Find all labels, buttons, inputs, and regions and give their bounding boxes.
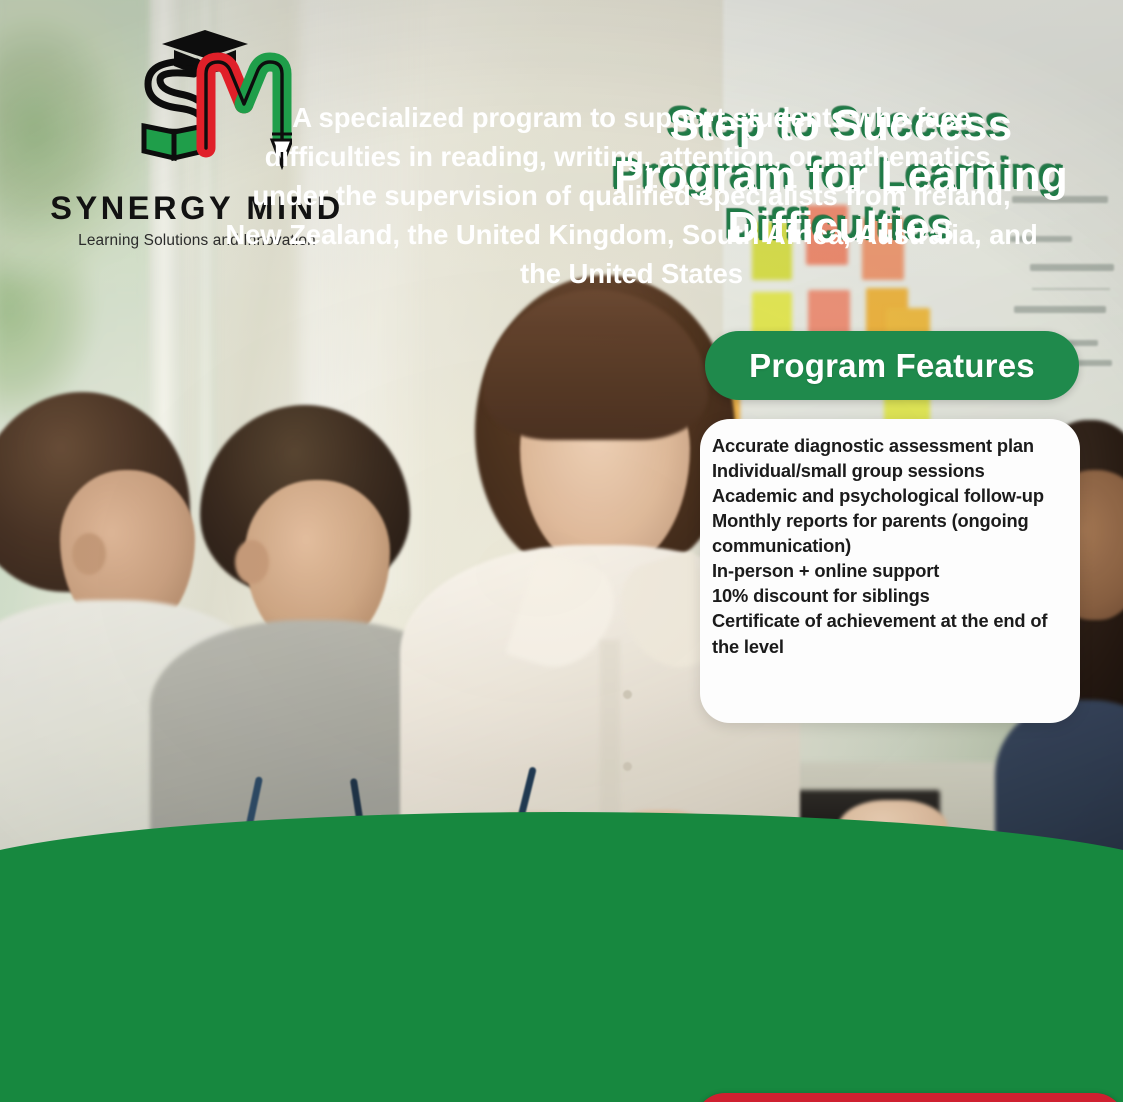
list-item: Monthly reports for parents (ongoing com…	[712, 508, 1074, 558]
list-item: Individual/small group sessions	[712, 458, 1074, 483]
banner-line-5: the United States	[120, 254, 1123, 293]
banner-line-1: A specialized program to support student…	[120, 98, 1123, 137]
ear	[72, 533, 106, 575]
cta-button[interactable]	[695, 1093, 1123, 1102]
program-features-card: Accurate diagnostic assessment plan Indi…	[700, 419, 1080, 723]
ear	[235, 540, 269, 584]
whiteboard-scribble	[1014, 306, 1106, 313]
program-features-badge: Program Features	[705, 331, 1079, 400]
program-features-label: Program Features	[749, 347, 1035, 385]
poster: SYNERGY MIND Learning Solutions and Inno…	[0, 0, 1123, 1102]
banner-line-2: difficulties in reading, writing, attent…	[120, 137, 1123, 176]
feature-list: Accurate diagnostic assessment plan Indi…	[712, 433, 1074, 659]
banner-line-4: New Zealand, the United Kingdom, South A…	[120, 215, 1123, 254]
list-item: 10% discount for siblings	[712, 583, 1074, 608]
shirt-button	[623, 690, 632, 699]
banner-description: A specialized program to support student…	[120, 98, 1123, 293]
shirt-button	[623, 762, 632, 771]
list-item: Academic and psychological follow-up	[712, 483, 1074, 508]
list-item: Certificate of achievement at the end of…	[712, 608, 1074, 658]
list-item: In-person + online support	[712, 558, 1074, 583]
banner-line-3: under the supervision of qualified speci…	[120, 176, 1123, 215]
list-item: Accurate diagnostic assessment plan	[712, 433, 1074, 458]
bottom-banner	[0, 812, 1123, 1102]
